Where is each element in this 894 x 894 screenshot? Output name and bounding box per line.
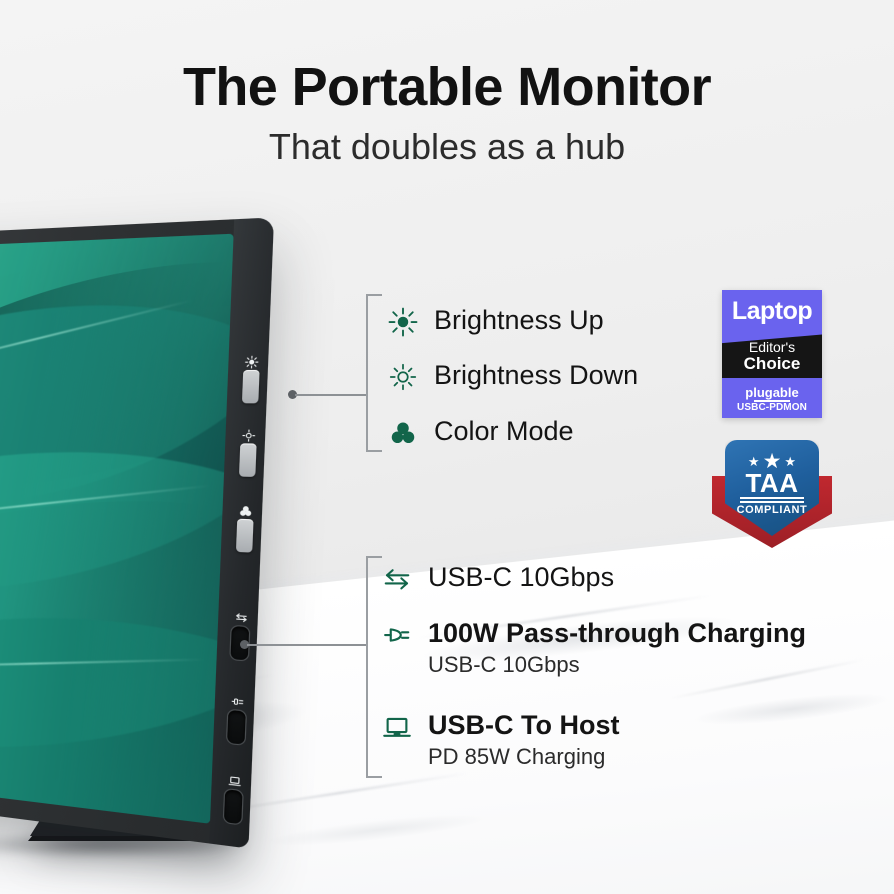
page-title: The Portable Monitor (0, 56, 894, 118)
laptop-port-icon (228, 773, 242, 788)
badge-award-line2: Choice (722, 354, 822, 374)
feature-brightness-down: Brightness Down (388, 360, 638, 392)
sun-outline-icon (388, 362, 418, 392)
data-transfer-port-icon (234, 610, 249, 624)
brightness-up-button[interactable] (242, 370, 260, 403)
feature-color-mode: Color Mode (388, 416, 574, 448)
product-marketing-image: The Portable Monitor That doubles as a h… (0, 0, 894, 894)
color-circles-icon (388, 418, 418, 448)
screen-wallpaper (0, 234, 234, 824)
feature-label: Brightness Down (434, 360, 638, 391)
portable-monitor (0, 236, 310, 836)
usb-c-port-power[interactable] (226, 709, 247, 746)
feature-usb-c-to-host: USB-C To Host PD 85W Charging (382, 710, 619, 770)
feature-label: Color Mode (434, 416, 574, 447)
color-mode-button[interactable] (236, 519, 254, 553)
sun-outline-icon (242, 428, 257, 442)
monitor-body (0, 217, 274, 848)
badge-taa-title: TAA (725, 468, 819, 499)
brightness-down-button[interactable] (239, 443, 257, 477)
controls-leader-line (295, 394, 367, 396)
feature-label: Brightness Up (434, 305, 604, 336)
monitor-screen (0, 234, 234, 824)
sun-filled-icon (388, 307, 418, 337)
star-icon: ★ (784, 454, 796, 469)
badge-award-line1: Editor's (722, 339, 822, 355)
ports-bracket (366, 556, 368, 778)
feature-label: USB-C To Host (428, 710, 619, 741)
usb-c-port-host[interactable] (223, 788, 244, 826)
feature-passthrough-charging: 100W Pass-through Charging USB-C 10Gbps (382, 618, 806, 678)
feature-sublabel: USB-C 10Gbps (428, 652, 806, 678)
badge-laptop-editors-choice: Laptop Editor's Choice plugable USBC-PDM… (722, 290, 822, 418)
sun-filled-icon (244, 354, 259, 367)
feature-label: 100W Pass-through Charging (428, 618, 806, 649)
feature-label: USB-C 10Gbps (428, 562, 614, 593)
badge-taa-subtitle: COMPLIANT (725, 504, 819, 516)
star-icon: ★ (748, 454, 760, 469)
badge-product-sku: USBC-PDMON (722, 402, 822, 413)
badge-brand-title: Laptop (722, 297, 822, 326)
feature-brightness-up: Brightness Up (388, 305, 604, 337)
feature-usb-c-data: USB-C 10Gbps (382, 562, 614, 594)
ports-leader-line (247, 644, 367, 646)
controls-bracket (366, 294, 368, 452)
data-transfer-arrows-icon (382, 564, 412, 594)
power-plug-port-icon (231, 693, 245, 707)
laptop-icon (382, 712, 412, 742)
color-mode-icon (239, 503, 254, 517)
badge-taa-compliant: ★★★ TAA COMPLIANT (712, 440, 832, 548)
page-subtitle: That doubles as a hub (0, 126, 894, 168)
badge-company-name: plugable (722, 385, 822, 400)
power-plug-icon (382, 620, 412, 650)
feature-sublabel: PD 85W Charging (428, 744, 619, 770)
